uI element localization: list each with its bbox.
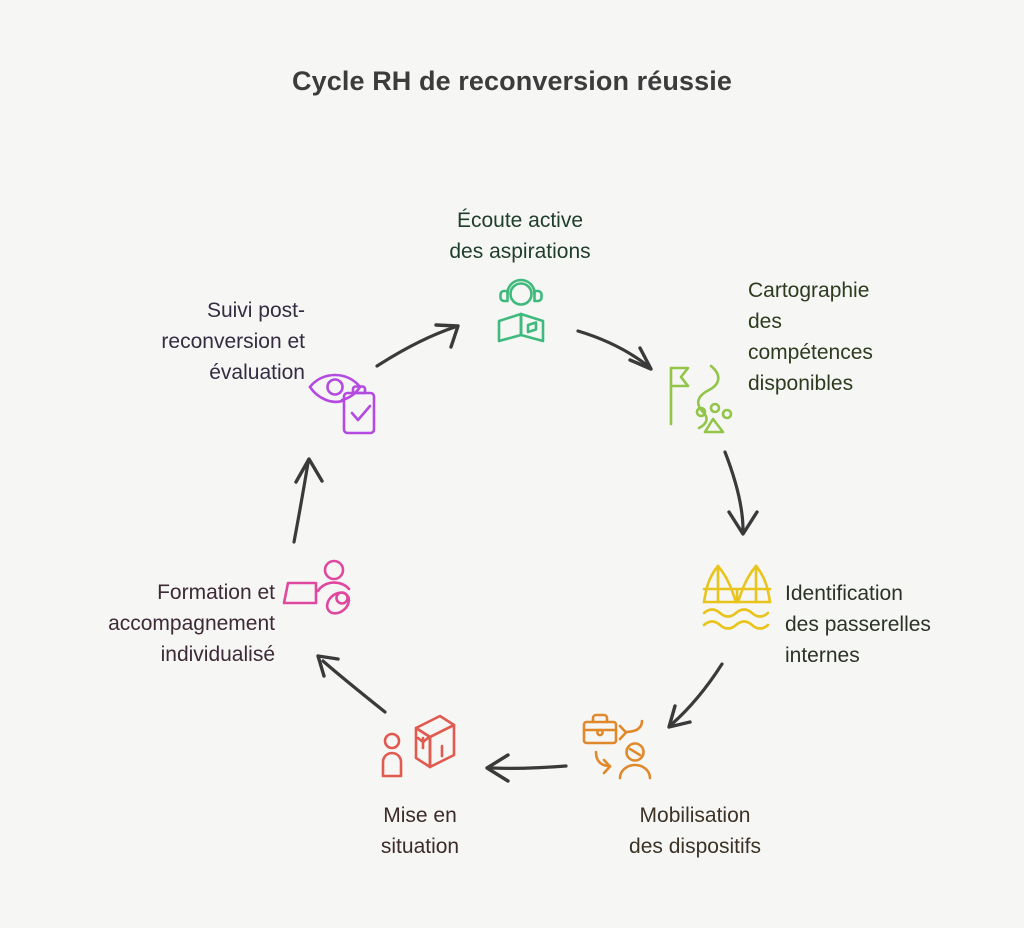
diagram-canvas: Cycle RH de reconversion réussie <box>0 0 1024 928</box>
laptop-person-icon <box>282 557 354 634</box>
node-mise-en-situation[interactable]: Mise en situation <box>300 700 540 870</box>
flag-path-paw-icon <box>663 362 735 439</box>
node-label-suivi-post-reconversion: Suivi post- reconversion et évaluation <box>90 295 305 388</box>
node-label-formation-accompagnement: Formation et accompagnement individualis… <box>20 577 275 670</box>
node-label-cartographie-competences: Cartographie des compétences disponibles <box>748 275 968 399</box>
node-label-mobilisation-dispositifs: Mobilisation des dispositifs <box>560 800 830 862</box>
node-cartographie-competences[interactable]: Cartographie des compétences disponibles <box>655 270 975 440</box>
node-label-identification-passerelles: Identification des passerelles internes <box>785 578 990 671</box>
node-mobilisation-dispositifs[interactable]: Mobilisation des dispositifs <box>560 700 830 870</box>
page-title: Cycle RH de reconversion réussie <box>0 66 1024 97</box>
arrow-cartographie-to-identification <box>725 452 757 534</box>
node-identification-passerelles[interactable]: Identification des passerelles internes <box>690 560 990 680</box>
headphones-book-icon <box>488 277 554 352</box>
arrow-formation-to-suivi <box>294 459 322 542</box>
node-suivi-post-reconversion[interactable]: Suivi post- reconversion et évaluation <box>90 295 390 445</box>
briefcase-person-exchange-icon <box>580 708 654 787</box>
node-label-mise-en-situation: Mise en situation <box>300 800 540 862</box>
node-formation-accompagnement[interactable]: Formation et accompagnement individualis… <box>20 555 350 675</box>
node-ecoute-active[interactable]: Écoute active des aspirations <box>400 205 640 355</box>
node-label-ecoute-active: Écoute active des aspirations <box>400 205 640 267</box>
person-box-icon <box>378 708 458 789</box>
bridge-icon <box>698 560 776 643</box>
eye-clipboard-check-icon <box>308 365 382 442</box>
